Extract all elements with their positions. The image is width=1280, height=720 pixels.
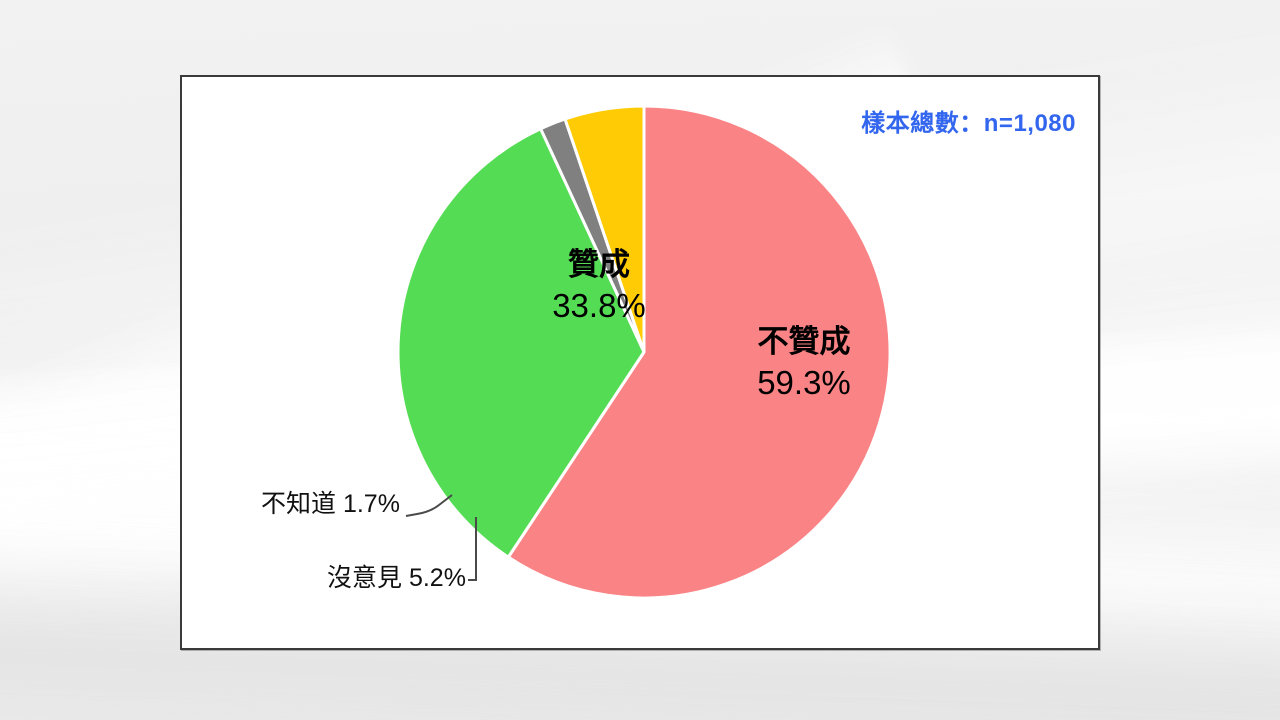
pie-callout-noopinion: 沒意見 5.2% [327, 558, 466, 594]
pie-label-disagree-name: 不贊成 [704, 322, 904, 362]
chart-frame: 樣本總數：n=1,080 不贊成 59.3% 贊成 33.8% 不知道 1.7%… [180, 75, 1100, 650]
pie-label-agree-value: 33.8% [504, 285, 694, 328]
pie-chart [182, 77, 1102, 652]
pie-label-agree: 贊成 33.8% [504, 245, 694, 328]
slide-canvas: 樣本總數：n=1,080 不贊成 59.3% 贊成 33.8% 不知道 1.7%… [0, 0, 1280, 720]
pie-callout-dontknow: 不知道 1.7% [261, 484, 400, 520]
pie-label-agree-name: 贊成 [504, 245, 694, 285]
pie-label-disagree: 不贊成 59.3% [704, 322, 904, 405]
pie-label-disagree-value: 59.3% [704, 362, 904, 405]
